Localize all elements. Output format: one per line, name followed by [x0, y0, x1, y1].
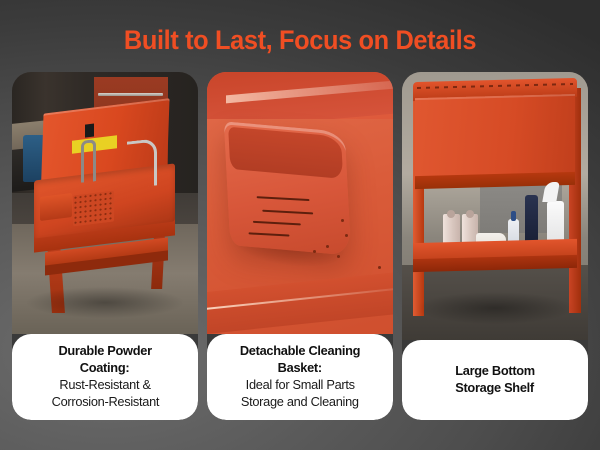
page-title: Built to Last, Focus on Details — [18, 24, 582, 56]
control-box — [85, 124, 94, 138]
detachable-cleaning-basket — [224, 121, 351, 256]
storage-shelf-photo — [402, 72, 588, 340]
cleaning-basket-photo — [207, 72, 393, 334]
feature-card-durable-powder-coating[interactable]: Durable Powder Coating: Rust-Resistant &… — [12, 72, 198, 420]
card-caption: Large Bottom Storage Shelf — [402, 340, 588, 420]
caption-regular-line-2: Corrosion-Resistant — [51, 393, 159, 410]
caption-bold-line-1: Detachable Cleaning — [240, 342, 360, 359]
card-caption: Detachable Cleaning Basket: Ideal for Sm… — [207, 334, 393, 420]
feature-card-row: Durable Powder Coating: Rust-Resistant &… — [12, 72, 588, 420]
caption-regular-line-1: Rust-Resistant & — [59, 376, 150, 393]
gooseneck-faucet-icon — [127, 139, 157, 189]
promo-banner: Built to Last, Focus on Details — [0, 0, 600, 450]
caption-bold-line-2: Coating: — [80, 359, 130, 376]
card-caption: Durable Powder Coating: Rust-Resistant &… — [12, 334, 198, 420]
caption-bold-line-1: Large Bottom — [455, 362, 535, 379]
caption-bold-line-2: Storage Shelf — [456, 379, 535, 396]
floor-shadow — [27, 287, 183, 318]
caption-regular-line-2: Storage and Cleaning — [241, 393, 359, 410]
parts-washer-bench-photo — [12, 72, 198, 334]
feature-card-detachable-cleaning-basket[interactable]: Detachable Cleaning Basket: Ideal for Sm… — [207, 72, 393, 420]
small-parts-tray — [40, 193, 72, 220]
tool-chest-drawer — [98, 93, 163, 96]
caption-bold-line-2: Basket: — [278, 359, 322, 376]
caption-regular-line-1: Ideal for Small Parts — [245, 376, 354, 393]
floor-shadow — [417, 292, 573, 324]
parts-clamp — [81, 139, 96, 182]
basket-interior — [228, 127, 344, 179]
caption-bold-line-1: Durable Powder — [58, 342, 151, 359]
feature-card-large-bottom-storage-shelf[interactable]: Large Bottom Storage Shelf — [402, 72, 588, 420]
perforated-drain-plate — [73, 190, 114, 226]
